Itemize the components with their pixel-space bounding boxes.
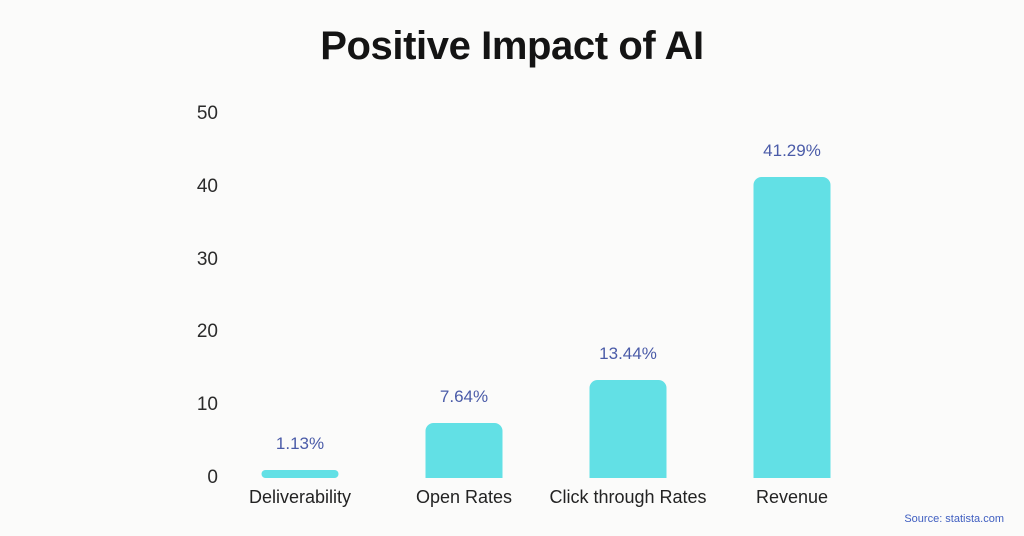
bar-category-deliverability: Deliverability bbox=[249, 486, 351, 508]
bar-column: 1.13% bbox=[218, 104, 382, 478]
y-axis-tick-10: 10 bbox=[176, 395, 218, 415]
bar-click-through-rates[interactable] bbox=[590, 380, 667, 478]
bar-deliverability[interactable] bbox=[262, 470, 339, 478]
bar-value-deliverability: 1.13% bbox=[276, 434, 324, 454]
bar-revenue[interactable] bbox=[754, 177, 831, 478]
bar-column: 41.29% bbox=[710, 104, 874, 478]
y-axis-tick-40: 40 bbox=[176, 177, 218, 197]
bar-value-click-through-rates: 13.44% bbox=[599, 344, 657, 364]
bar-group-click-through-rates[interactable]: 13.44% Click through Rates bbox=[546, 104, 710, 478]
bar-column: 13.44% bbox=[546, 104, 710, 478]
bars-layer: 1.13% Deliverability 7.64% Open Rates 13… bbox=[218, 104, 876, 500]
bar-chart-figure: Positive Impact of AI 50 40 30 20 10 0 1… bbox=[0, 0, 1024, 536]
bar-group-open-rates[interactable]: 7.64% Open Rates bbox=[382, 104, 546, 478]
bar-category-click-through-rates: Click through Rates bbox=[549, 486, 706, 508]
chart-title: Positive Impact of AI bbox=[0, 22, 1024, 70]
y-axis: 50 40 30 20 10 0 bbox=[176, 104, 218, 500]
y-axis-tick-30: 30 bbox=[176, 250, 218, 270]
y-axis-tick-0: 0 bbox=[176, 468, 218, 488]
bar-group-deliverability[interactable]: 1.13% Deliverability bbox=[218, 104, 382, 478]
bar-group-revenue[interactable]: 41.29% Revenue bbox=[710, 104, 874, 478]
y-axis-tick-50: 50 bbox=[176, 104, 218, 124]
bar-column: 7.64% bbox=[382, 104, 546, 478]
bar-value-revenue: 41.29% bbox=[763, 141, 821, 161]
bar-category-revenue: Revenue bbox=[756, 486, 828, 508]
y-axis-tick-20: 20 bbox=[176, 322, 218, 342]
bar-value-open-rates: 7.64% bbox=[440, 387, 488, 407]
bar-category-open-rates: Open Rates bbox=[416, 486, 512, 508]
bar-open-rates[interactable] bbox=[426, 423, 503, 478]
source-attribution: Source: statista.com bbox=[904, 512, 1004, 526]
plot-area: 50 40 30 20 10 0 1.13% Deliverability 7.… bbox=[176, 104, 876, 500]
